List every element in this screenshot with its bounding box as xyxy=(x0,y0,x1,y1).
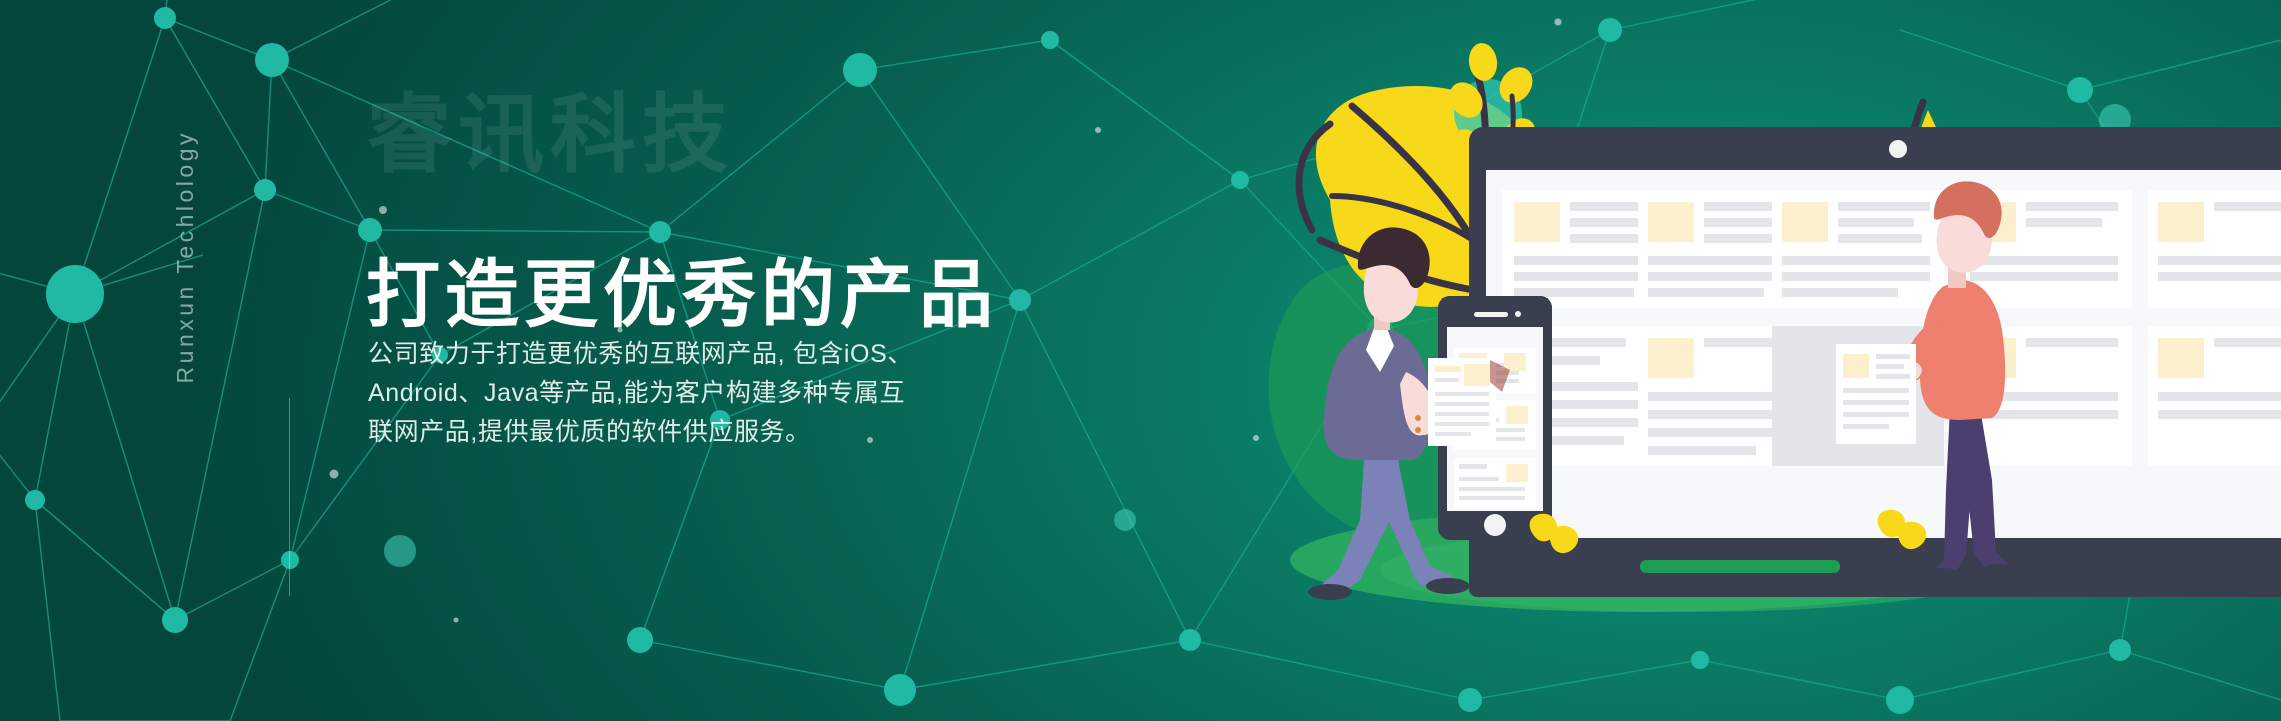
vertical-divider-rule xyxy=(289,398,290,596)
page-title: 打造更优秀的产品 xyxy=(366,255,998,335)
vertical-brand-label: Runxun Techlology xyxy=(172,130,199,390)
description-line-3: 联网产品,提供最优质的软件供应服务。 xyxy=(368,413,888,452)
ghost-brand-title: 睿讯科技 xyxy=(366,92,734,178)
hero-banner: 睿讯科技 打造更优秀的产品 公司致力于打造更优秀的互联网产品, 包含iOS、 A… xyxy=(0,0,2281,721)
description-line-2: Android、Java等产品,能为客户构建多种专属互 xyxy=(368,374,888,413)
description-line-1: 公司致力于打造更优秀的互联网产品, 包含iOS、 xyxy=(368,335,888,374)
vertical-brand-wrapper: Runxun Techlology xyxy=(268,130,312,570)
hero-text-block: 睿讯科技 打造更优秀的产品 公司致力于打造更优秀的互联网产品, 包含iOS、 A… xyxy=(0,0,2281,721)
hero-description: 公司致力于打造更优秀的互联网产品, 包含iOS、 Android、Java等产品… xyxy=(368,335,888,451)
